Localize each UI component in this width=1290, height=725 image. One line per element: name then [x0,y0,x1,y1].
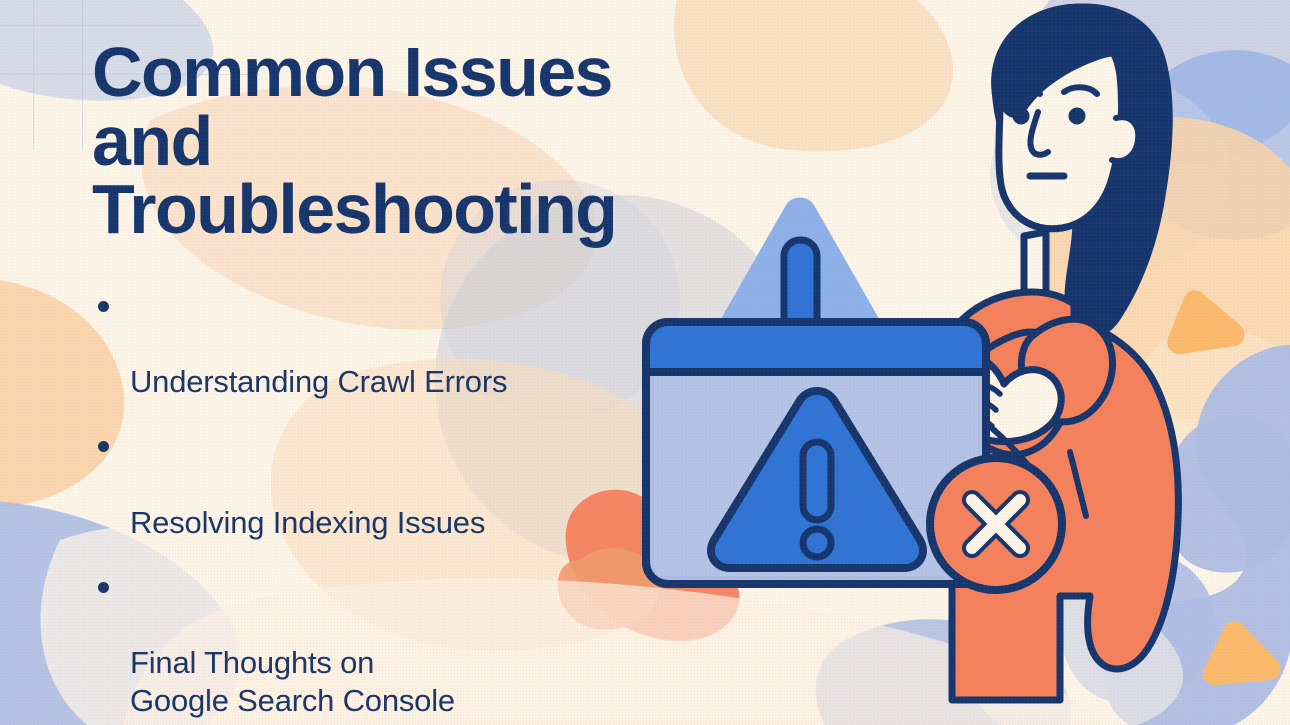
x-circle-icon [930,458,1062,590]
grid-line-vertical [33,0,34,150]
bullet-dot-icon [98,441,109,452]
slide-canvas: Common Issues and Troubleshooting Unders… [0,0,1290,725]
list-item-label: Understanding Crawl Errors [130,364,507,399]
illustration [600,0,1290,725]
list-item: Resolving Indexing Issues [92,428,692,541]
topic-list: Understanding Crawl Errors Resolving Ind… [92,288,692,720]
grid-line-horizontal [0,25,200,26]
bullet-dot-icon [98,582,109,593]
list-item: Understanding Crawl Errors [92,288,692,401]
grid-line-vertical [82,0,83,150]
text-column: Common Issues and Troubleshooting Unders… [92,38,692,725]
page-title: Common Issues and Troubleshooting [92,38,692,244]
list-item-label: Resolving Indexing Issues [130,505,485,540]
bullet-dot-icon [98,301,109,312]
list-item: Final Thoughts on Google Search Console [92,569,692,720]
list-item-label: Final Thoughts on Google Search Console [130,645,455,718]
